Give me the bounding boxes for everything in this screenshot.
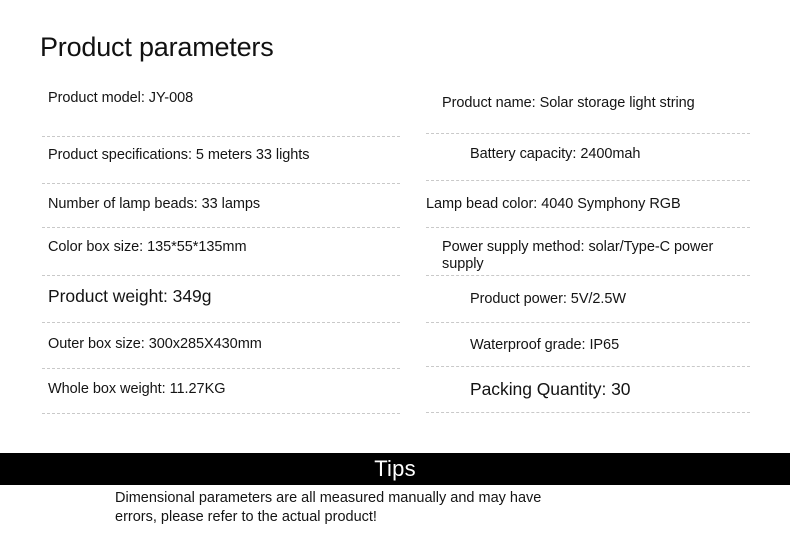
spec-row: Whole box weight: 11.27KG: [42, 381, 400, 398]
spec-row-text: Product specifications: 5 meters 33 ligh…: [42, 147, 400, 164]
spec-row: Product specifications: 5 meters 33 ligh…: [42, 147, 400, 164]
spec-row-text: Waterproof grade: IP65: [426, 337, 750, 354]
spec-row: Outer box size: 300x285X430mm: [42, 336, 400, 353]
page-title: Product parameters: [40, 31, 274, 63]
tips-note-line-2: errors, please refer to the actual produ…: [115, 508, 715, 527]
row-divider: [42, 322, 400, 323]
row-divider: [42, 413, 400, 414]
tips-banner-label: Tips: [374, 457, 416, 481]
spec-row-text: Whole box weight: 11.27KG: [42, 381, 400, 398]
row-divider: [42, 368, 400, 369]
spec-column-right: Product name: Solar storage light string…: [426, 86, 750, 426]
row-divider: [42, 183, 400, 184]
tips-banner: Tips: [0, 453, 790, 485]
spec-row-text: Color box size: 135*55*135mm: [42, 239, 400, 256]
row-divider: [426, 180, 750, 181]
row-divider: [426, 366, 750, 367]
tips-note: Dimensional parameters are all measured …: [115, 489, 715, 527]
spec-row: Product name: Solar storage light string: [426, 95, 750, 112]
row-divider: [42, 275, 400, 276]
spec-row: Color box size: 135*55*135mm: [42, 239, 400, 256]
spec-row-text: Battery capacity: 2400mah: [426, 146, 750, 163]
spec-row: Waterproof grade: IP65: [426, 337, 750, 354]
spec-row-text: Number of lamp beads: 33 lamps: [42, 196, 400, 213]
spec-row: Product power: 5V/2.5W: [426, 291, 750, 308]
spec-row-text: Power supply method: solar/Type-C power …: [426, 239, 750, 273]
spec-row-text: Product power: 5V/2.5W: [426, 291, 750, 308]
spec-table: Product model: JY-008 Product specificat…: [0, 86, 790, 426]
spec-row-text: Lamp bead color: 4040 Symphony RGB: [426, 196, 750, 213]
spec-row-text: Product weight: 349g: [42, 286, 400, 306]
row-divider: [426, 275, 750, 276]
spec-row: Power supply method: solar/Type-C power …: [426, 239, 750, 273]
row-divider: [42, 227, 400, 228]
spec-row: Product model: JY-008: [42, 90, 400, 107]
spec-row: Battery capacity: 2400mah: [426, 146, 750, 163]
row-divider: [42, 136, 400, 137]
row-divider: [426, 133, 750, 134]
product-parameters-page: Product parameters Product model: JY-008…: [0, 0, 790, 538]
spec-row-text: Packing Quantity: 30: [426, 379, 750, 399]
spec-row: Number of lamp beads: 33 lamps: [42, 196, 400, 213]
spec-row: Product weight: 349g: [42, 286, 400, 306]
spec-row: Packing Quantity: 30: [426, 379, 750, 399]
spec-row-text: Product model: JY-008: [42, 90, 400, 107]
row-divider: [426, 227, 750, 228]
spec-row-text: Product name: Solar storage light string: [426, 95, 750, 112]
spec-column-left: Product model: JY-008 Product specificat…: [42, 86, 400, 426]
row-divider: [426, 322, 750, 323]
spec-row-text: Outer box size: 300x285X430mm: [42, 336, 400, 353]
spec-row: Lamp bead color: 4040 Symphony RGB: [426, 196, 750, 213]
row-divider: [426, 412, 750, 413]
tips-note-line-1: Dimensional parameters are all measured …: [115, 489, 715, 508]
